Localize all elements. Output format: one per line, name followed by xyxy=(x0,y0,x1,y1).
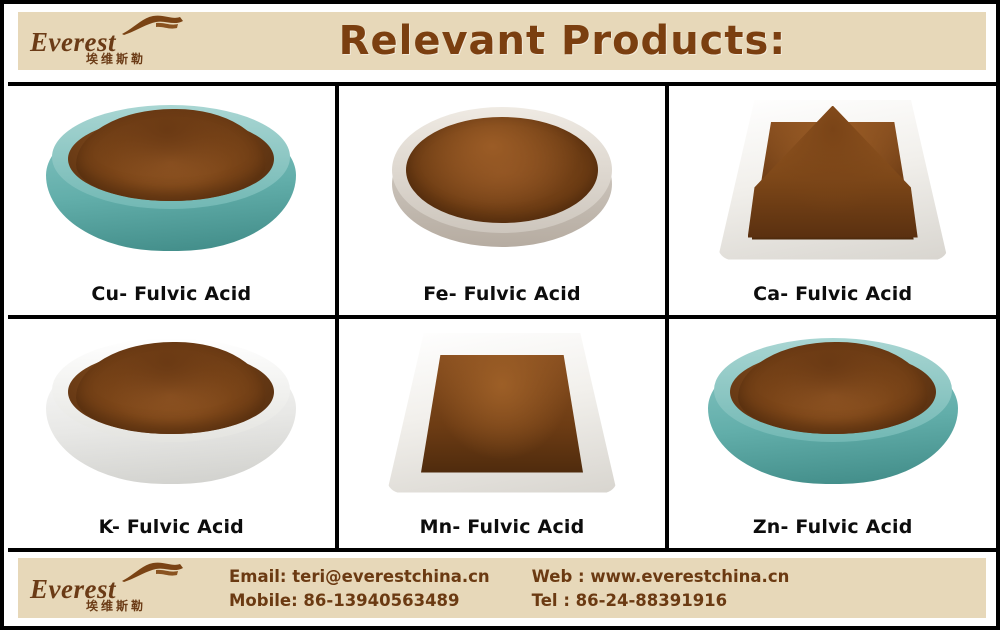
teal-oval-bowl-icon xyxy=(708,338,958,488)
product-photo-ca xyxy=(669,86,996,273)
white-square-dish-icon xyxy=(387,333,617,493)
product-cell-fe[interactable]: Fe- Fulvic Acid xyxy=(339,86,670,315)
product-photo-cu xyxy=(8,86,335,273)
product-photo-mn xyxy=(339,319,666,506)
product-grid: Cu- Fulvic Acid Fe- Fulvic Acid xyxy=(8,82,996,552)
logo-chinese-text: 埃维斯勒 xyxy=(86,600,146,612)
mountain-swoosh-icon xyxy=(120,561,186,583)
round-petri-dish-icon xyxy=(392,105,612,255)
product-caption: Zn- Fulvic Acid xyxy=(669,506,996,548)
product-cell-cu[interactable]: Cu- Fulvic Acid xyxy=(8,86,339,315)
product-photo-fe xyxy=(339,86,666,273)
product-caption: Cu- Fulvic Acid xyxy=(8,273,335,315)
header-band: Everest 埃维斯勒 Relevant Products: xyxy=(18,12,986,70)
product-caption: Ca- Fulvic Acid xyxy=(669,273,996,315)
footer-brand-logo: Everest 埃维斯勒 xyxy=(24,560,199,616)
product-cell-zn[interactable]: Zn- Fulvic Acid xyxy=(669,319,996,548)
product-catalog-banner: Everest 埃维斯勒 Relevant Products: Cu- Fulv… xyxy=(0,0,1000,630)
product-photo-k xyxy=(8,319,335,506)
contact-column-left: Email: teri@everestchina.cn Mobile: 86-1… xyxy=(229,567,490,610)
brand-logo: Everest 埃维斯勒 xyxy=(24,13,199,69)
white-square-dish-icon xyxy=(718,100,948,260)
contact-column-right: Web : www.everestchina.cn Tel : 86-24-88… xyxy=(532,567,790,610)
tel-text: Tel : 86-24-88391916 xyxy=(532,591,790,610)
mountain-swoosh-icon xyxy=(120,14,186,36)
footer-band: Everest 埃维斯勒 Email: teri@everestchina.cn… xyxy=(18,558,986,618)
product-row-2: K- Fulvic Acid Mn- Fulvic Acid xyxy=(8,319,996,548)
mobile-text: Mobile: 86-13940563489 xyxy=(229,591,490,610)
email-text[interactable]: Email: teri@everestchina.cn xyxy=(229,567,490,586)
teal-oval-bowl-icon xyxy=(46,105,296,255)
product-row-1: Cu- Fulvic Acid Fe- Fulvic Acid xyxy=(8,86,996,319)
white-oval-bowl-icon xyxy=(46,338,296,488)
page-title: Relevant Products: xyxy=(199,18,986,64)
footer: Everest 埃维斯勒 Email: teri@everestchina.cn… xyxy=(8,552,996,622)
product-caption: Fe- Fulvic Acid xyxy=(339,273,666,315)
product-cell-ca[interactable]: Ca- Fulvic Acid xyxy=(669,86,996,315)
logo-chinese-text: 埃维斯勒 xyxy=(86,53,146,65)
product-cell-k[interactable]: K- Fulvic Acid xyxy=(8,319,339,548)
web-text[interactable]: Web : www.everestchina.cn xyxy=(532,567,790,586)
product-photo-zn xyxy=(669,319,996,506)
product-caption: Mn- Fulvic Acid xyxy=(339,506,666,548)
product-cell-mn[interactable]: Mn- Fulvic Acid xyxy=(339,319,670,548)
header: Everest 埃维斯勒 Relevant Products: xyxy=(8,8,996,74)
product-caption: K- Fulvic Acid xyxy=(8,506,335,548)
contact-info: Email: teri@everestchina.cn Mobile: 86-1… xyxy=(199,567,986,610)
